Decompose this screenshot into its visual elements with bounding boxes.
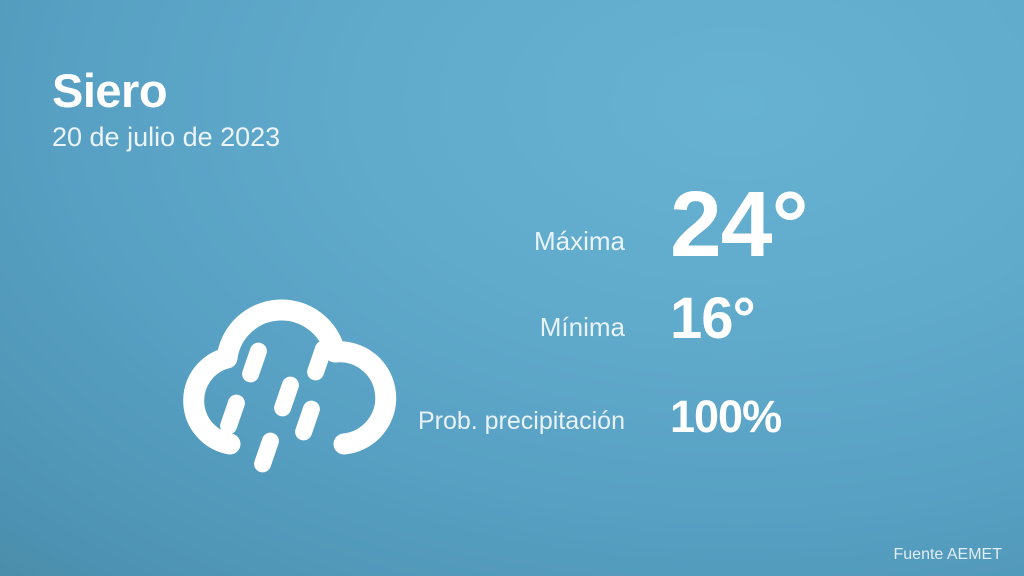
weather-card: Siero 20 de julio de 2023 Máxima 24° Mín… xyxy=(0,0,1024,576)
source-attribution: Fuente AEMET xyxy=(894,546,1003,564)
reading-value-minima: 16° xyxy=(670,290,755,348)
reading-row-precipitacion: Prob. precipitación 100% xyxy=(408,394,908,454)
header: Siero 20 de julio de 2023 xyxy=(52,66,280,153)
page-title: Siero xyxy=(52,66,280,116)
readings-list: Máxima 24° Mínima 16° Prob. precipitació… xyxy=(408,178,908,454)
rain-cloud-icon xyxy=(168,248,404,484)
reading-label-precipitacion: Prob. precipitación xyxy=(408,407,670,436)
reading-row-maxima: Máxima 24° xyxy=(408,178,908,290)
reading-row-minima: Mínima 16° xyxy=(408,290,908,394)
reading-value-precipitacion: 100% xyxy=(670,394,781,439)
reading-label-maxima: Máxima xyxy=(408,226,670,257)
forecast-date: 20 de julio de 2023 xyxy=(52,122,280,153)
reading-label-minima: Mínima xyxy=(408,312,670,343)
reading-value-maxima: 24° xyxy=(670,178,808,271)
